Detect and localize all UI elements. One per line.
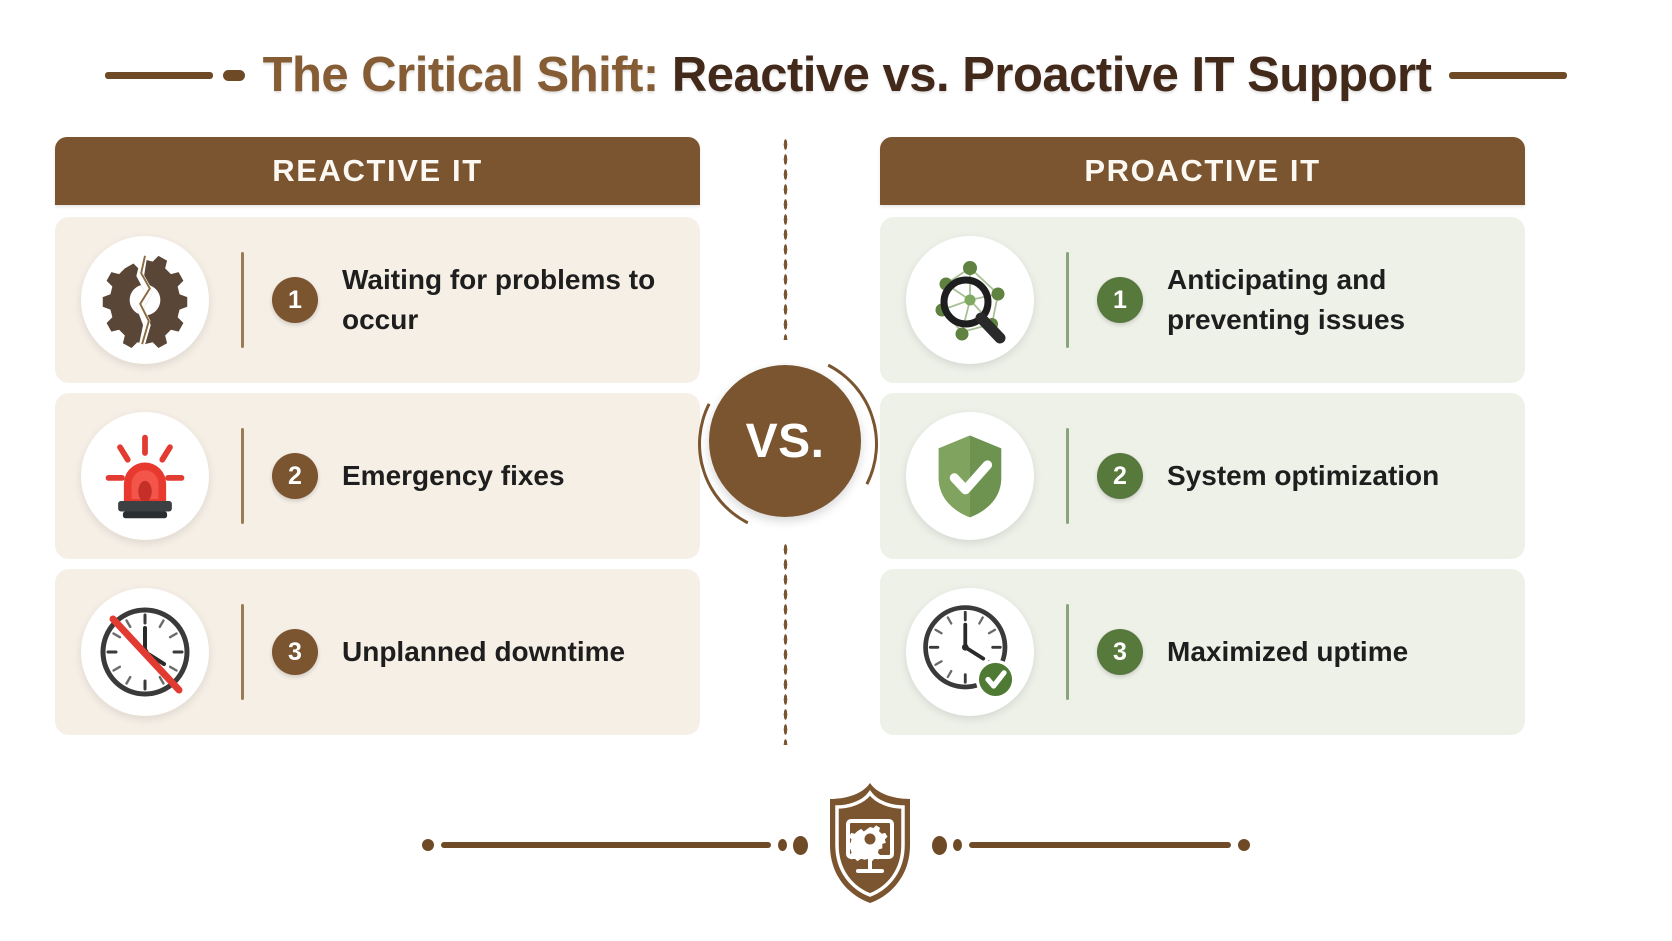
item-label: Emergency fixes	[342, 456, 565, 496]
title-accent-left	[105, 70, 245, 81]
proactive-list: 1 Anticipating and preventing issues 2 S…	[880, 217, 1525, 735]
footer-line-right	[969, 842, 1231, 848]
column-header-proactive-label: PROACTIVE IT	[1084, 153, 1320, 189]
footer-dot-large	[932, 836, 947, 855]
item-number-badge: 2	[1097, 453, 1143, 499]
siren-alarm-icon	[97, 428, 193, 524]
title-accent-right	[1449, 72, 1567, 79]
footer-dot-small	[953, 839, 962, 851]
icon-container	[906, 412, 1034, 540]
versus-ring	[675, 331, 902, 558]
reactive-list: 1 Waiting for problems to occur	[55, 217, 700, 735]
footer-right-rule	[932, 836, 1250, 855]
item-number-badge: 1	[1097, 277, 1143, 323]
page-title-part1: The Critical Shift:	[263, 48, 659, 102]
footer-ornament	[0, 760, 1672, 930]
row-divider	[1066, 252, 1069, 348]
icon-container	[906, 588, 1034, 716]
dotted-line-top	[783, 137, 788, 340]
list-item[interactable]: 1 Anticipating and preventing issues	[880, 217, 1525, 383]
item-label: Maximized uptime	[1167, 632, 1408, 672]
list-item[interactable]: 3 Unplanned downtime	[55, 569, 700, 735]
footer-dot-small	[778, 839, 787, 851]
broken-gear-icon	[97, 252, 193, 348]
footer-line-left	[441, 842, 771, 848]
list-item[interactable]: 3 Maximized uptime	[880, 569, 1525, 735]
icon-container	[81, 236, 209, 364]
column-reactive: REACTIVE IT	[55, 137, 700, 735]
column-header-proactive: PROACTIVE IT	[880, 137, 1525, 205]
clock-disabled-icon	[95, 602, 195, 702]
footer-line-cap-left	[422, 839, 434, 851]
item-number-badge: 1	[272, 277, 318, 323]
versus-divider: VS.	[690, 137, 880, 745]
network-magnifier-icon	[920, 250, 1020, 350]
versus-badge: VS.	[690, 346, 880, 536]
item-number-badge: 3	[1097, 629, 1143, 675]
item-number-badge: 2	[272, 453, 318, 499]
page-title-row: The Critical Shift: Reactive vs. Proacti…	[0, 40, 1672, 110]
item-number-badge: 3	[272, 629, 318, 675]
title-accent-line-right	[1449, 72, 1567, 79]
footer-dots-right	[932, 836, 962, 855]
icon-container	[81, 412, 209, 540]
item-label: Unplanned downtime	[342, 632, 625, 672]
footer-emblem	[822, 779, 918, 912]
clock-check-icon	[918, 600, 1022, 704]
shield-monitor-gear-icon	[822, 779, 918, 907]
shield-check-icon	[924, 428, 1016, 524]
column-header-reactive: REACTIVE IT	[55, 137, 700, 205]
column-header-reactive-label: REACTIVE IT	[272, 153, 483, 189]
list-item[interactable]: 2 System optimization	[880, 393, 1525, 559]
list-item[interactable]: 2 Emergency fixes	[55, 393, 700, 559]
title-accent-dot-left	[223, 70, 245, 81]
dotted-line-bottom	[783, 542, 788, 745]
column-proactive: PROACTIVE IT	[880, 137, 1525, 735]
item-label: System optimization	[1167, 456, 1439, 496]
page-title: The Critical Shift: Reactive vs. Proacti…	[263, 47, 1432, 103]
page-title-part2: Reactive vs. Proactive IT Support	[672, 48, 1432, 102]
footer-line-cap-right	[1238, 839, 1250, 851]
footer-dot-large	[793, 836, 808, 855]
item-label: Waiting for problems to occur	[342, 260, 682, 340]
footer-left-rule	[422, 836, 808, 855]
item-label: Anticipating and preventing issues	[1167, 260, 1507, 340]
row-divider	[241, 428, 244, 524]
title-accent-line-left	[105, 72, 213, 79]
icon-container	[906, 236, 1034, 364]
row-divider	[1066, 428, 1069, 524]
list-item[interactable]: 1 Waiting for problems to occur	[55, 217, 700, 383]
icon-container	[81, 588, 209, 716]
footer-dots-left	[778, 836, 808, 855]
row-divider	[1066, 604, 1069, 700]
row-divider	[241, 604, 244, 700]
row-divider	[241, 252, 244, 348]
